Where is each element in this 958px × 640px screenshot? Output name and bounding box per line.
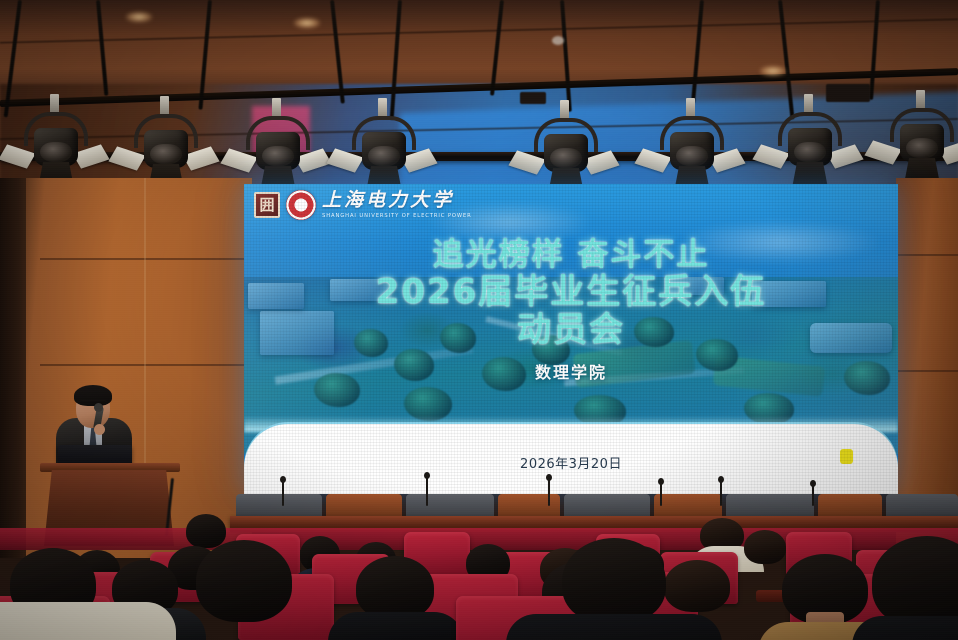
university-logo: 囲 上海电力大学 SHANGHAI UNIVERSITY OF ELECTRIC… bbox=[254, 190, 472, 220]
spotlight-mount-clamp bbox=[378, 98, 387, 118]
spotlight-mount-clamp bbox=[686, 98, 695, 118]
spotlight-lens bbox=[150, 144, 182, 164]
audience-head bbox=[744, 530, 786, 564]
slide-accent-square bbox=[840, 449, 853, 464]
spotlight-mount-clamp bbox=[916, 90, 925, 110]
slide-title-line-2: 2026届毕业生征兵入伍 bbox=[244, 273, 898, 311]
stage-spotlight bbox=[654, 112, 730, 192]
ceiling-speaker-dot bbox=[552, 36, 564, 45]
microphone-capsule bbox=[810, 480, 816, 487]
spotlight-mount-clamp bbox=[272, 98, 281, 118]
recessed-ceiling-light bbox=[294, 18, 320, 28]
spotlight-mount-clamp bbox=[804, 94, 813, 114]
spotlight-lens bbox=[262, 146, 294, 166]
spotlight-lens bbox=[906, 138, 938, 158]
university-seal-icon bbox=[286, 190, 316, 220]
speaker-hand bbox=[94, 424, 105, 435]
microphone-capsule bbox=[280, 476, 286, 483]
recessed-ceiling-light bbox=[760, 66, 786, 76]
spotlight-mount-clamp bbox=[560, 100, 569, 120]
slide-date: 2026年3月20日 bbox=[244, 453, 898, 472]
audience-head bbox=[664, 560, 730, 612]
microphone-capsule bbox=[546, 474, 552, 481]
slide-title-line-1: 追光榜样 奋斗不止 bbox=[244, 238, 898, 273]
spotlight-lens bbox=[794, 142, 826, 162]
audience-head bbox=[186, 514, 226, 548]
spotlight-lens bbox=[40, 142, 72, 162]
stage-spotlight bbox=[528, 114, 604, 194]
ceiling-dimmer-rack bbox=[826, 84, 870, 102]
audience-shoulders bbox=[0, 602, 176, 640]
stage-spotlight bbox=[346, 112, 422, 192]
auditorium-photo: 囲 上海电力大学 SHANGHAI UNIVERSITY OF ELECTRIC… bbox=[0, 0, 958, 640]
spotlight-lens bbox=[676, 146, 708, 166]
audience-shoulders bbox=[852, 616, 958, 640]
wall-seam bbox=[40, 364, 252, 366]
microphone-capsule bbox=[718, 476, 724, 483]
audience-head bbox=[196, 540, 292, 622]
spotlight-lens bbox=[550, 148, 582, 168]
audience-shoulders bbox=[506, 614, 722, 640]
stage-spotlight bbox=[772, 108, 848, 188]
university-name-en: SHANGHAI UNIVERSITY OF ELECTRIC POWER bbox=[322, 213, 472, 219]
audience-head bbox=[562, 538, 666, 624]
wall-seam bbox=[896, 370, 958, 372]
audience-shoulders bbox=[328, 612, 464, 640]
stage-spotlight bbox=[18, 108, 94, 188]
slide-title-block: 追光榜样 奋斗不止 2026届毕业生征兵入伍 动员会 bbox=[244, 238, 898, 349]
wall-seam bbox=[144, 178, 146, 478]
ceiling-equipment-box bbox=[520, 92, 546, 104]
audience-head bbox=[356, 556, 434, 620]
microphone-capsule bbox=[424, 472, 430, 479]
wall-seam bbox=[40, 258, 252, 260]
microphone-capsule bbox=[658, 478, 664, 485]
slide-subtitle: 数理学院 bbox=[244, 359, 898, 383]
recessed-ceiling-light bbox=[126, 12, 152, 22]
university-emblem-icon: 囲 bbox=[254, 192, 280, 218]
university-name-cn: 上海电力大学 bbox=[322, 191, 472, 211]
university-logo-text: 上海电力大学 SHANGHAI UNIVERSITY OF ELECTRIC P… bbox=[322, 191, 472, 219]
audience-area bbox=[0, 500, 958, 640]
wall-seam bbox=[896, 254, 958, 256]
slide-title-line-3: 动员会 bbox=[244, 311, 898, 349]
spotlight-mount-clamp bbox=[50, 94, 59, 114]
stage-spotlight bbox=[884, 104, 958, 184]
spotlight-lens bbox=[368, 146, 400, 166]
led-display-screen[interactable]: 囲 上海电力大学 SHANGHAI UNIVERSITY OF ELECTRIC… bbox=[244, 184, 898, 494]
microphone-head bbox=[94, 403, 103, 412]
spotlight-mount-clamp bbox=[160, 96, 169, 116]
